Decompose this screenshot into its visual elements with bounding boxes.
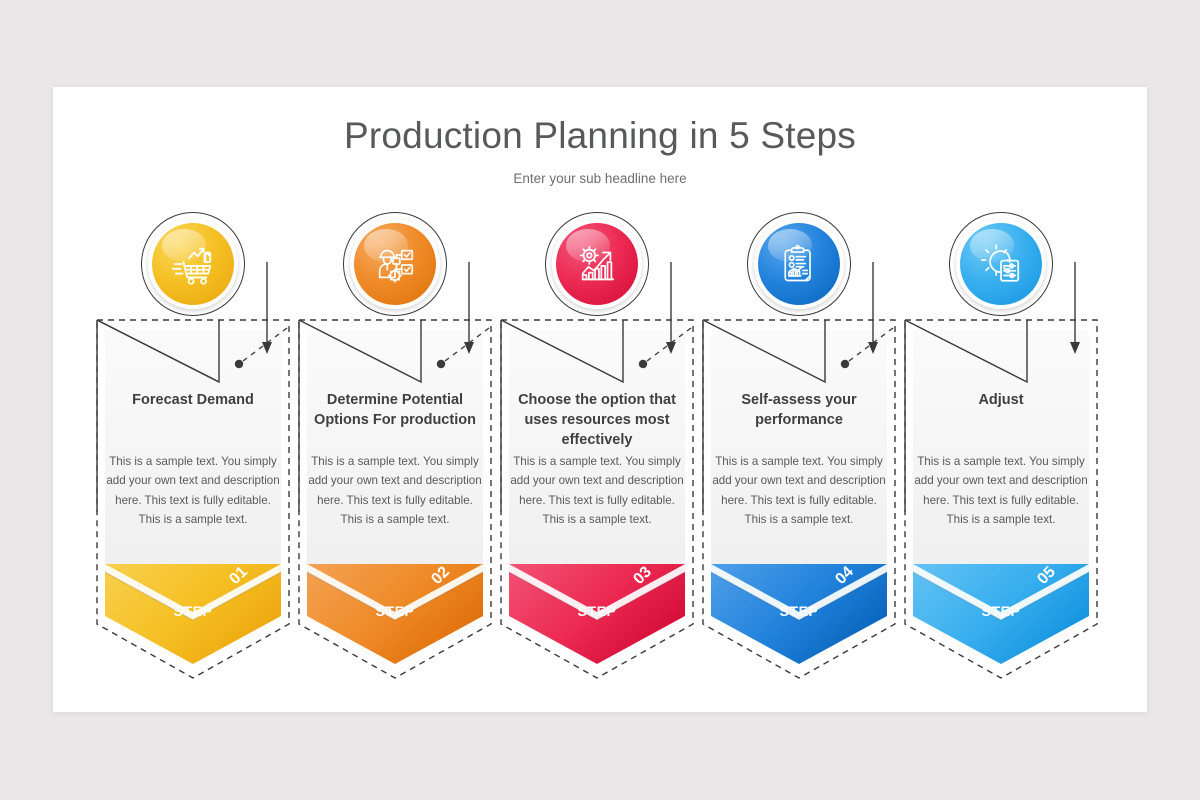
step-heading-3: Choose the option that uses resources mo… (509, 390, 685, 450)
steps-row: Forecast Demand This is a sample text. Y… (91, 212, 1111, 692)
step-icon-circle-4[interactable] (747, 212, 851, 316)
step-body-1: This is a sample text. You simply add yo… (103, 452, 283, 530)
step-body-5: This is a sample text. You simply add yo… (911, 452, 1091, 530)
slide-canvas: Production Planning in 5 Steps Enter you… (53, 87, 1147, 712)
step-card-2[interactable]: Determine Potential Options For producti… (293, 212, 497, 692)
gear-settings-sliders-icon (956, 219, 1046, 309)
step-icon-circle-5[interactable] (949, 212, 1053, 316)
step-card-4[interactable]: Self-assess your performance This is a s… (697, 212, 901, 692)
step-card-1[interactable]: Forecast Demand This is a sample text. Y… (91, 212, 295, 692)
step-card-3[interactable]: Choose the option that uses resources mo… (495, 212, 699, 692)
worker-process-checklist-icon (350, 219, 440, 309)
step-icon-circle-1[interactable] (141, 212, 245, 316)
page-subtitle: Enter your sub headline here (53, 171, 1147, 186)
step-heading-1: Forecast Demand (105, 390, 281, 410)
step-heading-5: Adjust (913, 390, 1089, 410)
step-heading-4: Self-assess your performance (711, 390, 887, 430)
clipboard-report-icon (754, 219, 844, 309)
step-icon-circle-2[interactable] (343, 212, 447, 316)
page-title: Production Planning in 5 Steps (53, 115, 1147, 157)
shopping-cart-growth-icon (148, 219, 238, 309)
step-heading-2: Determine Potential Options For producti… (307, 390, 483, 430)
step-body-3: This is a sample text. You simply add yo… (507, 452, 687, 530)
step-body-4: This is a sample text. You simply add yo… (709, 452, 889, 530)
step-body-2: This is a sample text. You simply add yo… (305, 452, 485, 530)
step-icon-circle-3[interactable] (545, 212, 649, 316)
gear-growth-chart-icon (552, 219, 642, 309)
step-card-5[interactable]: Adjust This is a sample text. You simply… (899, 212, 1103, 692)
